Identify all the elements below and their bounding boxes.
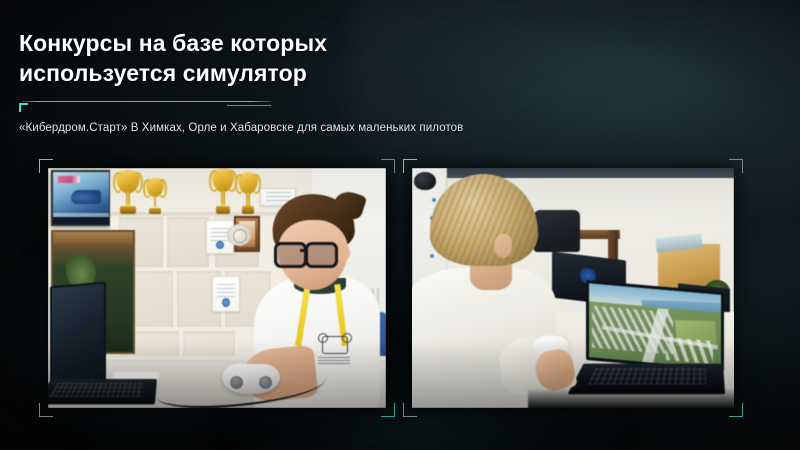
page-subtitle: «Кибердром.Старт» В Химках, Орле и Хабар…	[19, 120, 759, 136]
laptop-screen	[50, 282, 106, 389]
photo-right-scene	[412, 168, 734, 408]
photo-left-frame	[48, 168, 386, 408]
page-title: Конкурсы на базе которых используется си…	[19, 28, 379, 88]
trophy-cup	[146, 178, 164, 214]
laptop-keyboard	[50, 383, 144, 398]
corner-bracket-icon	[19, 103, 28, 112]
tv-drone-image	[71, 190, 101, 204]
child-hair-texture	[430, 174, 538, 266]
child-right	[412, 168, 560, 408]
diploma	[212, 276, 240, 312]
child-ear	[494, 234, 512, 258]
photo-right-frame	[412, 168, 734, 408]
laptop-keyboard	[588, 367, 706, 384]
cabinet-top-trim	[53, 232, 133, 244]
laptop-foreground	[576, 286, 724, 404]
photo-left-scene	[48, 168, 386, 408]
trophy-cup	[212, 168, 234, 214]
page-title-line-1: Конкурсы на базе которых	[19, 28, 379, 58]
wall-tv	[51, 170, 111, 226]
lanyard-strap	[295, 284, 311, 346]
slide-header: Конкурсы на базе которых используется си…	[19, 28, 759, 136]
shirt-logo-text	[318, 357, 350, 364]
tv-logo	[58, 176, 80, 183]
shelf-cell	[166, 216, 210, 268]
trophy-cup	[116, 170, 140, 214]
page-title-line-2: используется симулятор	[19, 58, 379, 88]
tv-bottom-bar	[53, 217, 109, 224]
glasses-icon	[274, 242, 340, 262]
drone-icon	[322, 336, 348, 354]
divider-line	[22, 101, 271, 102]
presentation-slide: Конкурсы на базе которых используется си…	[0, 0, 800, 450]
title-divider	[19, 101, 271, 110]
photo-right	[412, 168, 734, 408]
shirt-logo	[316, 332, 352, 366]
laptop-screen	[586, 280, 724, 372]
photo-left	[48, 168, 386, 408]
flight-simulator-view	[589, 283, 721, 369]
divider-segment	[227, 105, 271, 106]
simulator-buildings	[666, 337, 714, 363]
child-hair	[430, 174, 538, 266]
laptop-base	[48, 379, 157, 404]
photo-bottom-shadow	[528, 388, 734, 408]
